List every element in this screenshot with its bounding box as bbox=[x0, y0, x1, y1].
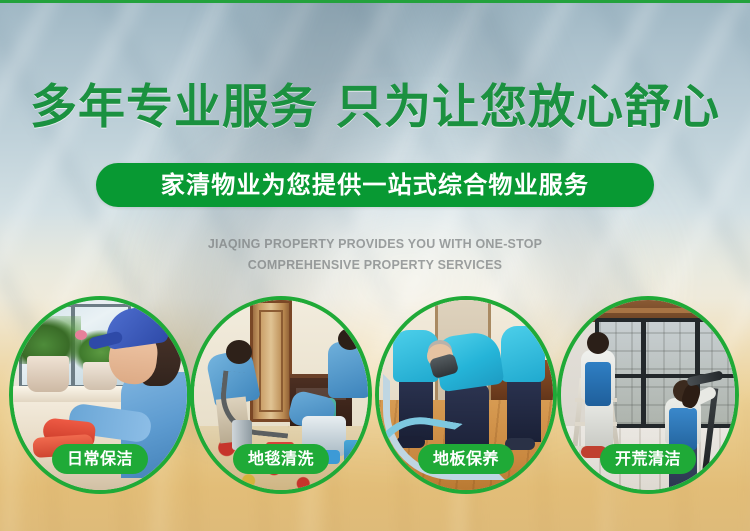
service-label-text: 日常保洁 bbox=[67, 451, 133, 467]
service-circles-row: 日常保洁 bbox=[0, 296, 750, 496]
service-label-pill: 地板保养 bbox=[418, 444, 514, 474]
service-item-post-construction-cleaning[interactable]: 开荒清洁 bbox=[557, 296, 739, 494]
english-subtitle-line-1: JIAQING PROPERTY PROVIDES YOU WITH ONE-S… bbox=[208, 237, 542, 251]
headline-part-2: 只为让您放心舒心 bbox=[336, 80, 720, 135]
english-subtitle-line-2: COMPREHENSIVE PROPERTY SERVICES bbox=[0, 255, 750, 276]
promotional-banner: 多年专业服务只为让您放心舒心 家清物业为您提供一站式综合物业服务 JIAQING… bbox=[0, 0, 750, 531]
service-label-text: 地板保养 bbox=[433, 451, 499, 467]
service-label-pill: 开荒清洁 bbox=[600, 444, 696, 474]
headline-part-1: 多年专业服务 bbox=[30, 80, 318, 135]
service-item-floor-maintenance[interactable]: 地板保养 bbox=[375, 296, 557, 494]
tagline-text: 家清物业为您提供一站式综合物业服务 bbox=[161, 173, 589, 197]
service-label-pill: 日常保洁 bbox=[52, 444, 148, 474]
tagline-pill: 家清物业为您提供一站式综合物业服务 bbox=[96, 163, 654, 207]
service-item-carpet-cleaning[interactable]: 地毯清洗 bbox=[190, 296, 372, 494]
service-label-text: 开荒清洁 bbox=[615, 451, 681, 467]
service-item-daily-cleaning[interactable]: 日常保洁 bbox=[9, 296, 191, 494]
top-green-rule bbox=[0, 0, 750, 3]
english-subtitle: JIAQING PROPERTY PROVIDES YOU WITH ONE-S… bbox=[0, 234, 750, 276]
service-label-pill: 地毯清洗 bbox=[233, 444, 329, 474]
page-title: 多年专业服务只为让您放心舒心 bbox=[0, 84, 750, 131]
service-label-text: 地毯清洗 bbox=[248, 451, 314, 467]
